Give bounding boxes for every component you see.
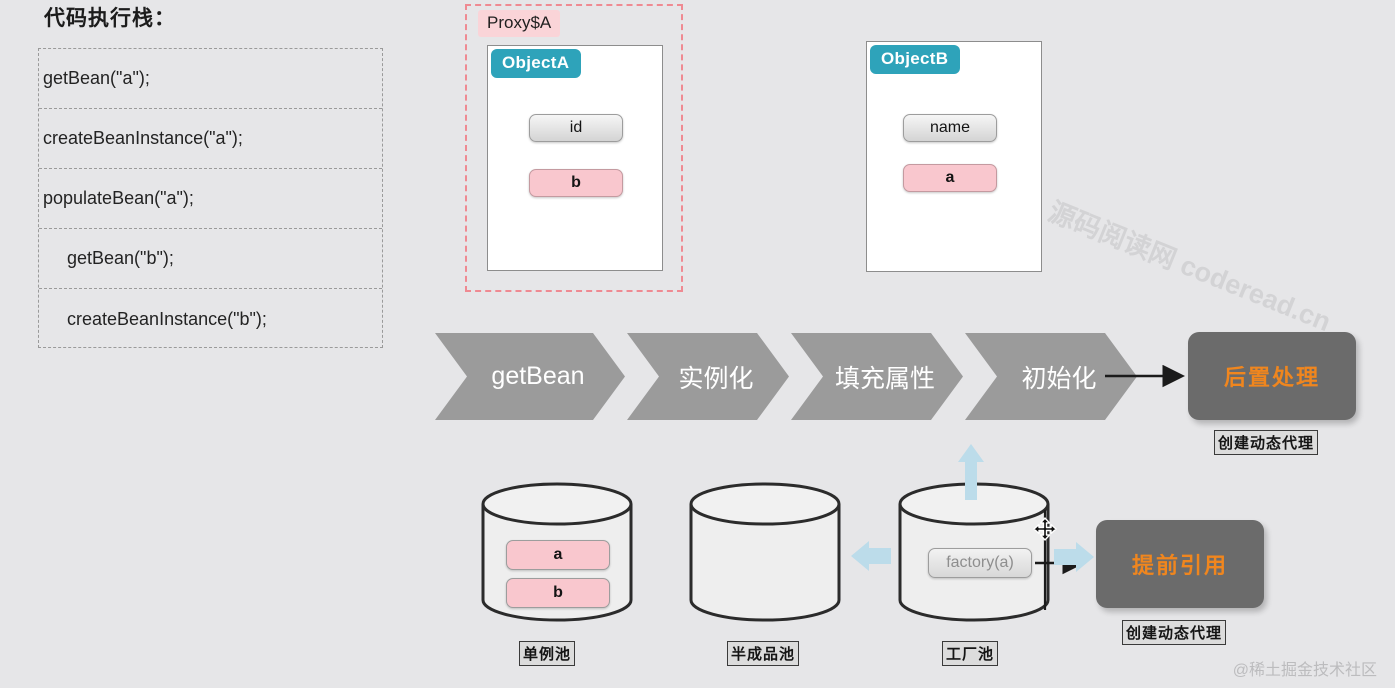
pipeline-step-instantiate[interactable]: 实例化 (627, 333, 789, 420)
call-stack-panel: getBean("a"); createBeanInstance("a"); p… (38, 48, 383, 348)
pipeline-step-populate[interactable]: 填充属性 (791, 333, 963, 420)
field-pill-id: id (529, 114, 623, 142)
stack-frame: getBean("b"); (39, 229, 382, 289)
lifecycle-pipeline: getBean 实例化 填充属性 初始化 (435, 333, 1139, 420)
object-b-badge: ObjectB (870, 45, 960, 74)
pool-caption-factory: 工厂池 (942, 641, 998, 666)
arrow-factory-to-halfbaked (851, 541, 891, 571)
watermark-diagonal: 源码阅读网 coderead.cn (1043, 190, 1337, 339)
post-process-box[interactable]: 后置处理 (1188, 332, 1356, 420)
field-pill-b: b (529, 169, 623, 197)
pool-caption-singleton: 单例池 (519, 641, 575, 666)
cylinder-shape (688, 482, 843, 622)
early-reference-box[interactable]: 提前引用 (1096, 520, 1264, 608)
post-process-caption: 创建动态代理 (1214, 430, 1318, 455)
page-title: 代码执行栈： (44, 2, 176, 32)
stack-frame: getBean("a"); (39, 49, 382, 109)
diagram-canvas: 代码执行栈： getBean("a"); createBeanInstance(… (0, 0, 1395, 688)
pipeline-step-getbean[interactable]: getBean (435, 333, 625, 420)
pool-item-b: b (506, 578, 610, 608)
pool-item-a: a (506, 540, 610, 570)
arrow-factory-to-earlyref (1054, 542, 1094, 572)
watermark-corner: @稀土掘金技术社区 (1233, 656, 1377, 680)
stack-frame: populateBean("a"); (39, 169, 382, 229)
stack-frame: createBeanInstance("a"); (39, 109, 382, 169)
early-reference-caption: 创建动态代理 (1122, 620, 1226, 645)
object-b-card: ObjectB (866, 41, 1042, 272)
proxy-label: Proxy$A (478, 10, 560, 37)
pool-halfbaked (688, 482, 843, 622)
pool-item-factory-a: factory(a) (928, 548, 1032, 578)
field-pill-a: a (903, 164, 997, 192)
field-pill-name: name (903, 114, 997, 142)
pipeline-step-initialize[interactable]: 初始化 (965, 333, 1137, 420)
stack-frame: createBeanInstance("b"); (39, 289, 382, 349)
move-cursor-icon (1033, 517, 1057, 541)
pool-caption-halfbaked: 半成品池 (727, 641, 799, 666)
object-a-card: ObjectA (487, 45, 663, 271)
object-a-badge: ObjectA (491, 49, 581, 78)
